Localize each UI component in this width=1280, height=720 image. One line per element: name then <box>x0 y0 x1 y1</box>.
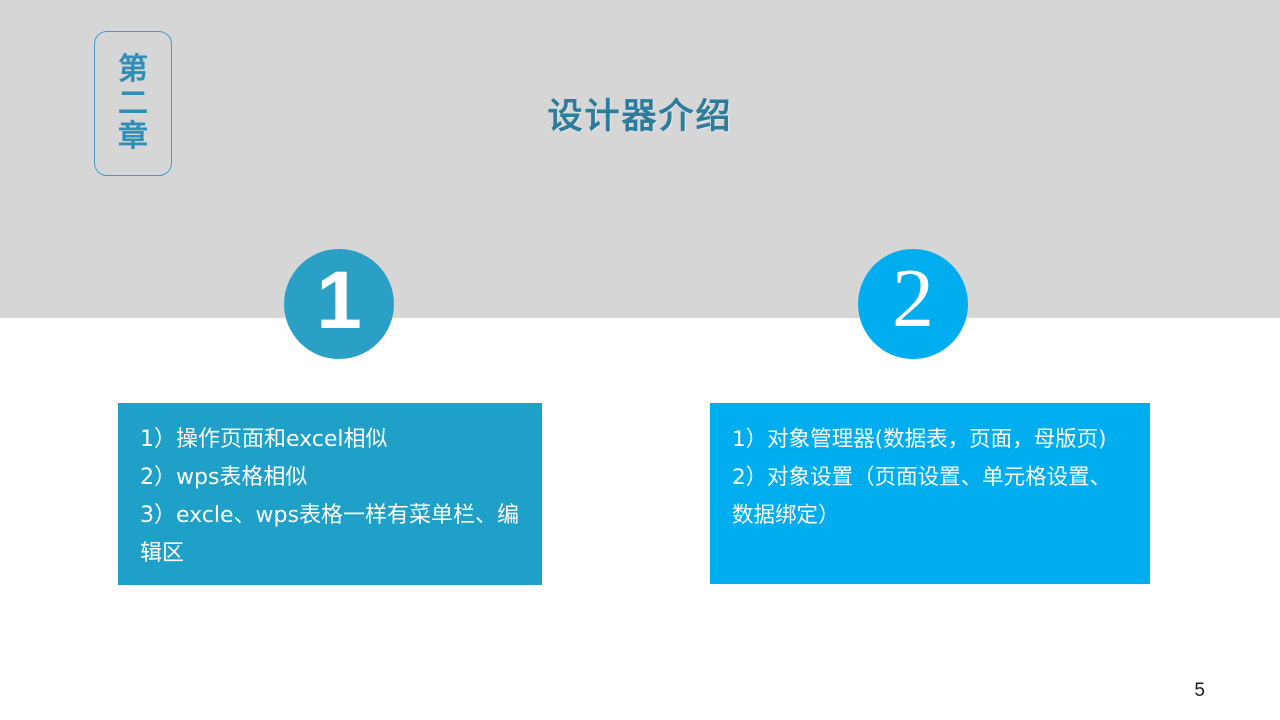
page-number: 5 <box>1194 680 1205 702</box>
content-box-right: 1）对象管理器(数据表，页面，母版页) 2）对象设置（页面设置、单元格设置、数据… <box>710 403 1150 584</box>
content-line: 1）操作页面和excel相似 <box>140 421 522 459</box>
content-line: 2）wps表格相似 <box>140 459 522 497</box>
step-circle-2: 2 <box>858 249 968 359</box>
header-background-band <box>0 0 1280 318</box>
content-line: 1）对象管理器(数据表，页面，母版页) <box>732 421 1130 459</box>
content-line: 2）对象设置（页面设置、单元格设置、数据绑定） <box>732 459 1130 535</box>
page-title: 设计器介绍 <box>0 88 1280 139</box>
content-box-left: 1）操作页面和excel相似 2）wps表格相似 3）excle、wps表格一样… <box>118 403 542 585</box>
step-number-2: 2 <box>892 257 934 341</box>
step-number-1: 1 <box>316 260 362 342</box>
step-circle-1: 1 <box>284 249 394 359</box>
content-line: 3）excle、wps表格一样有菜单栏、编辑区 <box>140 497 522 573</box>
